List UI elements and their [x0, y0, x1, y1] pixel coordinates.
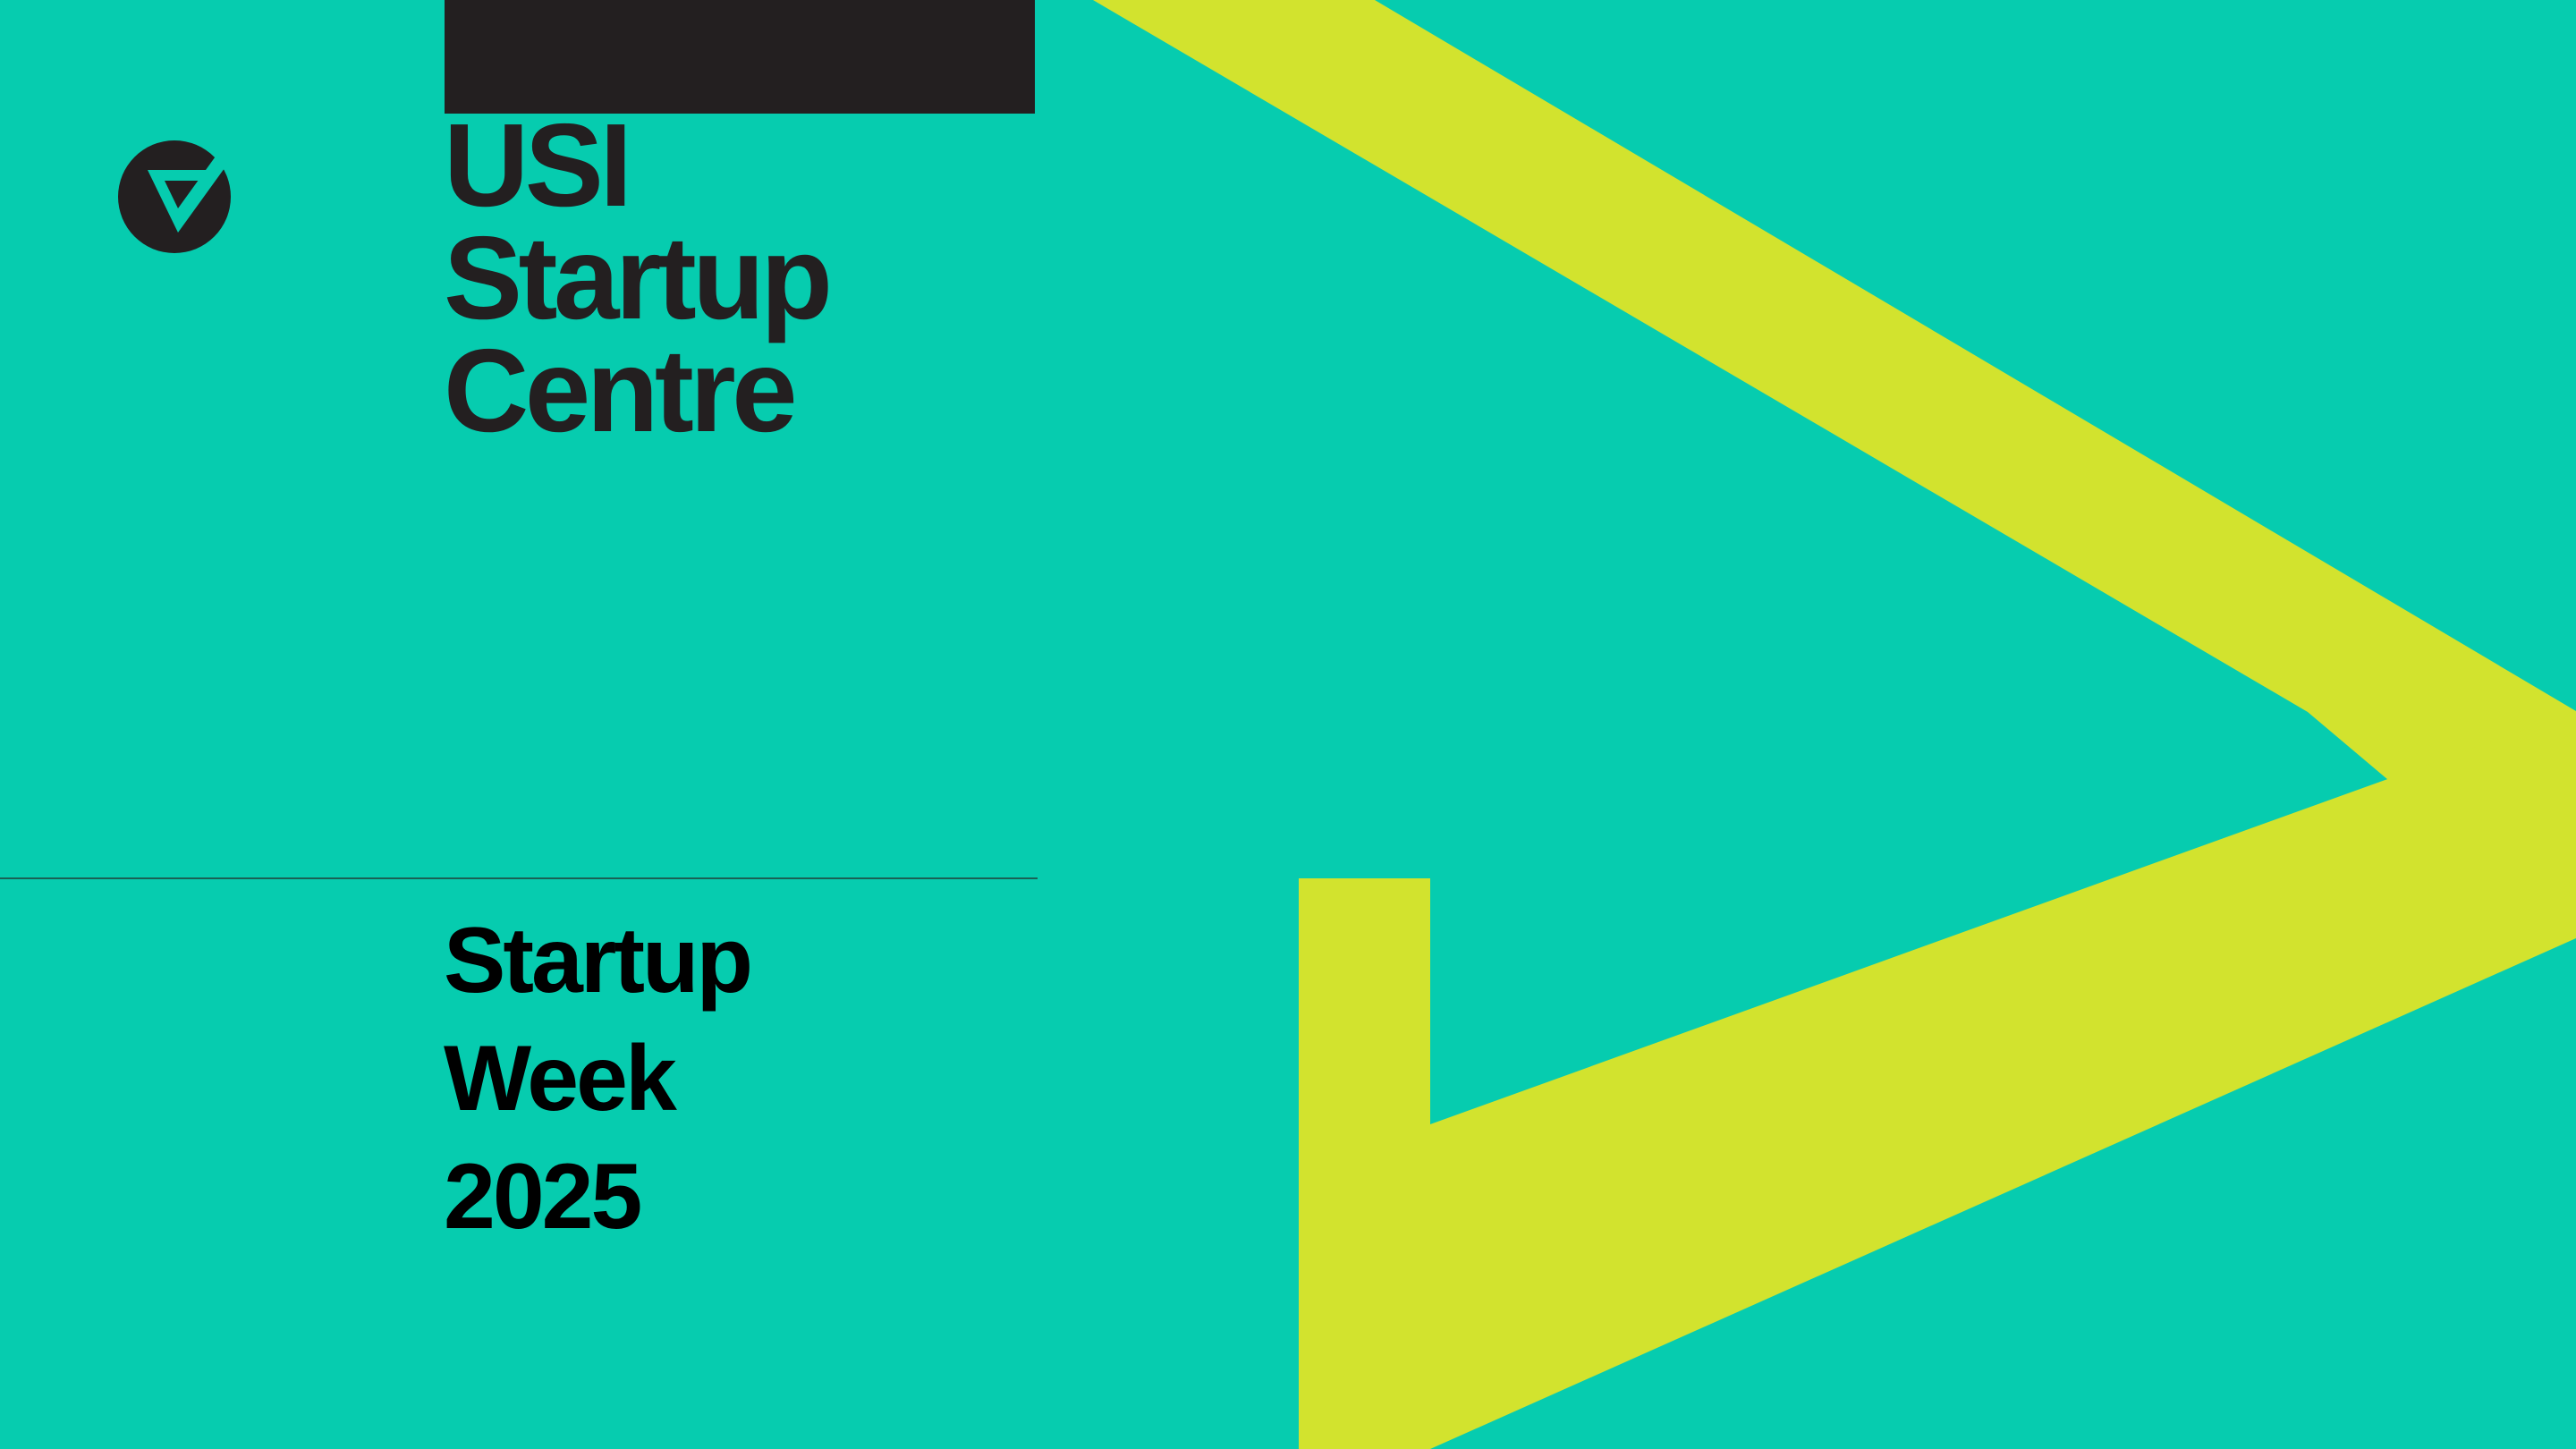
divider — [0, 877, 1038, 879]
header-block — [445, 0, 1035, 114]
chevron-right-icon — [0, 0, 2576, 1449]
page-title: USI Startup Centre — [444, 109, 1123, 447]
event-subtitle: Startup Week 2025 — [444, 902, 1123, 1256]
chevron-upper-arm — [1093, 0, 2576, 938]
poster-canvas: USI Startup Centre Startup Week 2025 — [0, 0, 2576, 1449]
chevron-lower-arm — [1299, 711, 2576, 1449]
usi-v-mark-icon — [112, 134, 237, 259]
logo-badge-circle — [118, 140, 231, 253]
chevron-stem — [1299, 878, 1430, 1449]
